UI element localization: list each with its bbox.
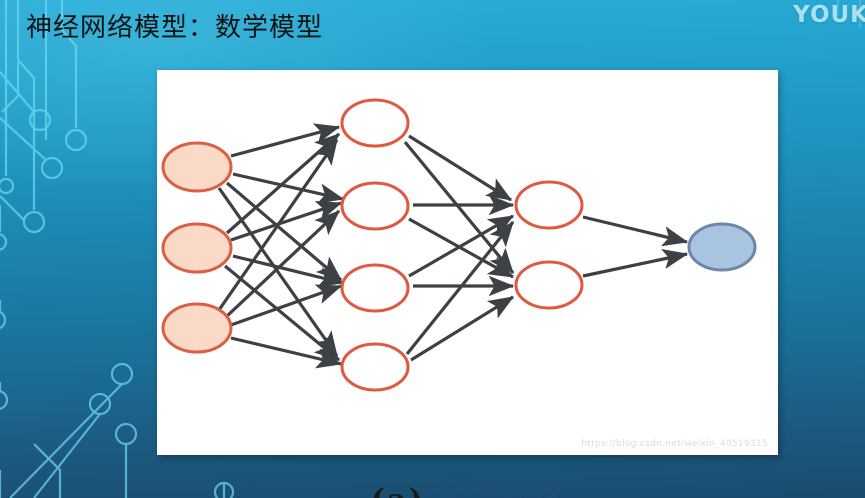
hidden-layer-1-nodes	[342, 100, 408, 390]
diagram-caption: (a) 前馈网络	[157, 475, 778, 498]
hidden2-node-1[interactable]	[516, 182, 582, 228]
diagram-panel: (a) 前馈网络 https://blog.csdn.net/weixin_40…	[157, 70, 778, 455]
input-node-1[interactable]	[163, 143, 231, 191]
hidden2-node-2[interactable]	[516, 262, 582, 308]
hidden-layer-2-nodes	[516, 182, 582, 308]
hidden1-node-1[interactable]	[342, 100, 408, 146]
input-node-2[interactable]	[163, 224, 231, 272]
brand-watermark: YOUK	[793, 2, 865, 28]
caption-label: 前馈网络	[436, 483, 564, 498]
output-node-1[interactable]	[689, 224, 755, 270]
input-node-3[interactable]	[163, 304, 231, 352]
source-watermark: https://blog.csdn.net/weixin_40519315	[581, 439, 768, 449]
hidden1-node-2[interactable]	[342, 183, 408, 229]
edges-input-to-hidden1	[219, 127, 343, 360]
hidden1-node-3[interactable]	[342, 265, 408, 311]
edges-hidden1-to-hidden2	[405, 136, 513, 360]
output-layer-nodes	[689, 224, 755, 270]
neural-network-diagram	[157, 70, 778, 400]
caption-tag: (a)	[371, 483, 425, 498]
hidden1-node-4[interactable]	[342, 344, 408, 390]
edges-hidden2-to-output	[583, 217, 687, 276]
slide-title: 神经网络模型：数学模型	[26, 11, 323, 45]
input-layer-nodes	[163, 143, 231, 352]
presentation-slide: 神经网络模型：数学模型 YOUK	[0, 0, 865, 498]
